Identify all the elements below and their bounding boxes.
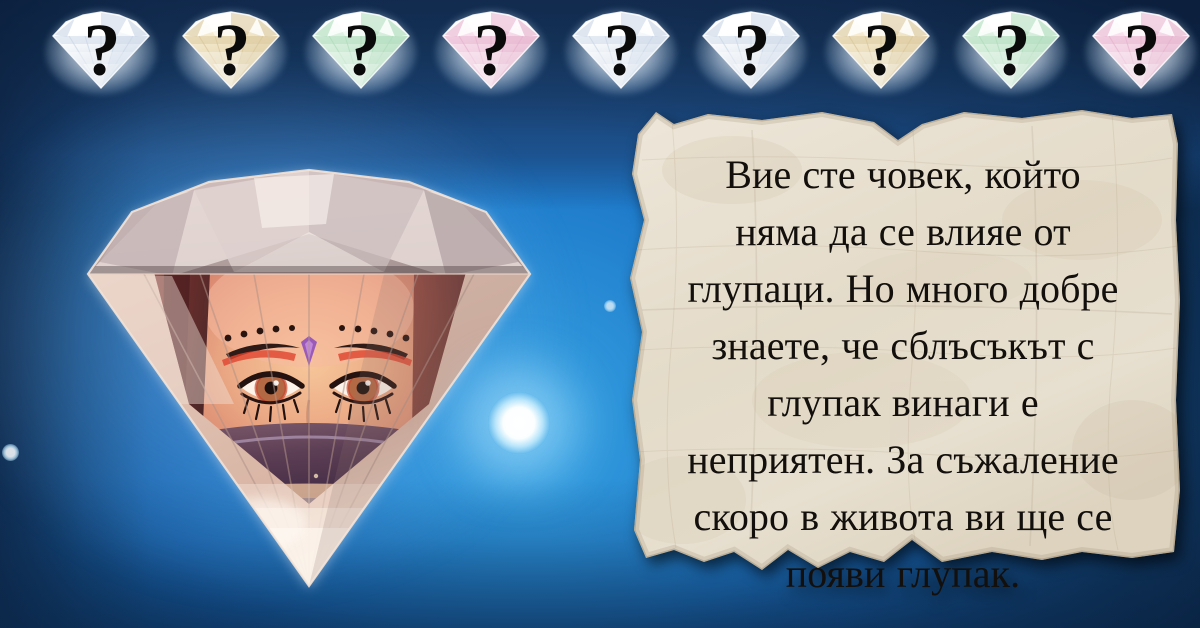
fortune-text-line: глупаци. Но много добре: [646, 260, 1160, 317]
mystic-diamond: [4, 104, 614, 619]
bokeh-light-small: [2, 444, 19, 461]
diamond-illustration: [4, 104, 614, 619]
fortune-card-canvas: ?????????: [0, 0, 1200, 628]
fortune-text-line: неприятен. За съжаление: [646, 431, 1160, 488]
header-diamond-3-pink[interactable]: ?: [432, 8, 550, 96]
fortune-text-line: глупак винаги е: [646, 374, 1160, 431]
bokeh-light-large: [488, 392, 550, 454]
header-diamond-6-champagne[interactable]: ?: [822, 8, 940, 96]
question-mark-icon: ?: [214, 14, 249, 88]
diamond-question-strip: ?????????: [0, 0, 1200, 104]
header-diamond-0-white[interactable]: ?: [42, 8, 160, 96]
fortune-text-line: знаете, че сблъсъкът с: [646, 317, 1160, 374]
question-mark-icon: ?: [344, 14, 379, 88]
header-diamond-7-mint-green[interactable]: ?: [952, 8, 1070, 96]
fortune-text-line: скоро в живота ви ще се: [646, 488, 1160, 545]
torn-parchment-note: Вие сте човек, койтоняма да се влияе отг…: [612, 100, 1190, 592]
question-mark-icon: ?: [734, 14, 769, 88]
fortune-text: Вие сте човек, койтоняма да се влияе отг…: [646, 146, 1160, 602]
header-diamond-8-pink[interactable]: ?: [1082, 8, 1200, 96]
header-diamond-1-champagne[interactable]: ?: [172, 8, 290, 96]
question-mark-icon: ?: [84, 14, 119, 88]
question-mark-icon: ?: [864, 14, 899, 88]
fortune-text-line: Вие сте човек, който: [646, 146, 1160, 203]
header-diamond-5-white[interactable]: ?: [692, 8, 810, 96]
fortune-text-line: появи глупак.: [646, 545, 1160, 602]
question-mark-icon: ?: [1124, 14, 1159, 88]
header-diamond-4-white[interactable]: ?: [562, 8, 680, 96]
fortune-text-line: няма да се влияе от: [646, 203, 1160, 260]
question-mark-icon: ?: [474, 14, 509, 88]
header-diamond-2-mint-green[interactable]: ?: [302, 8, 420, 96]
question-mark-icon: ?: [994, 14, 1029, 88]
question-mark-icon: ?: [604, 14, 639, 88]
